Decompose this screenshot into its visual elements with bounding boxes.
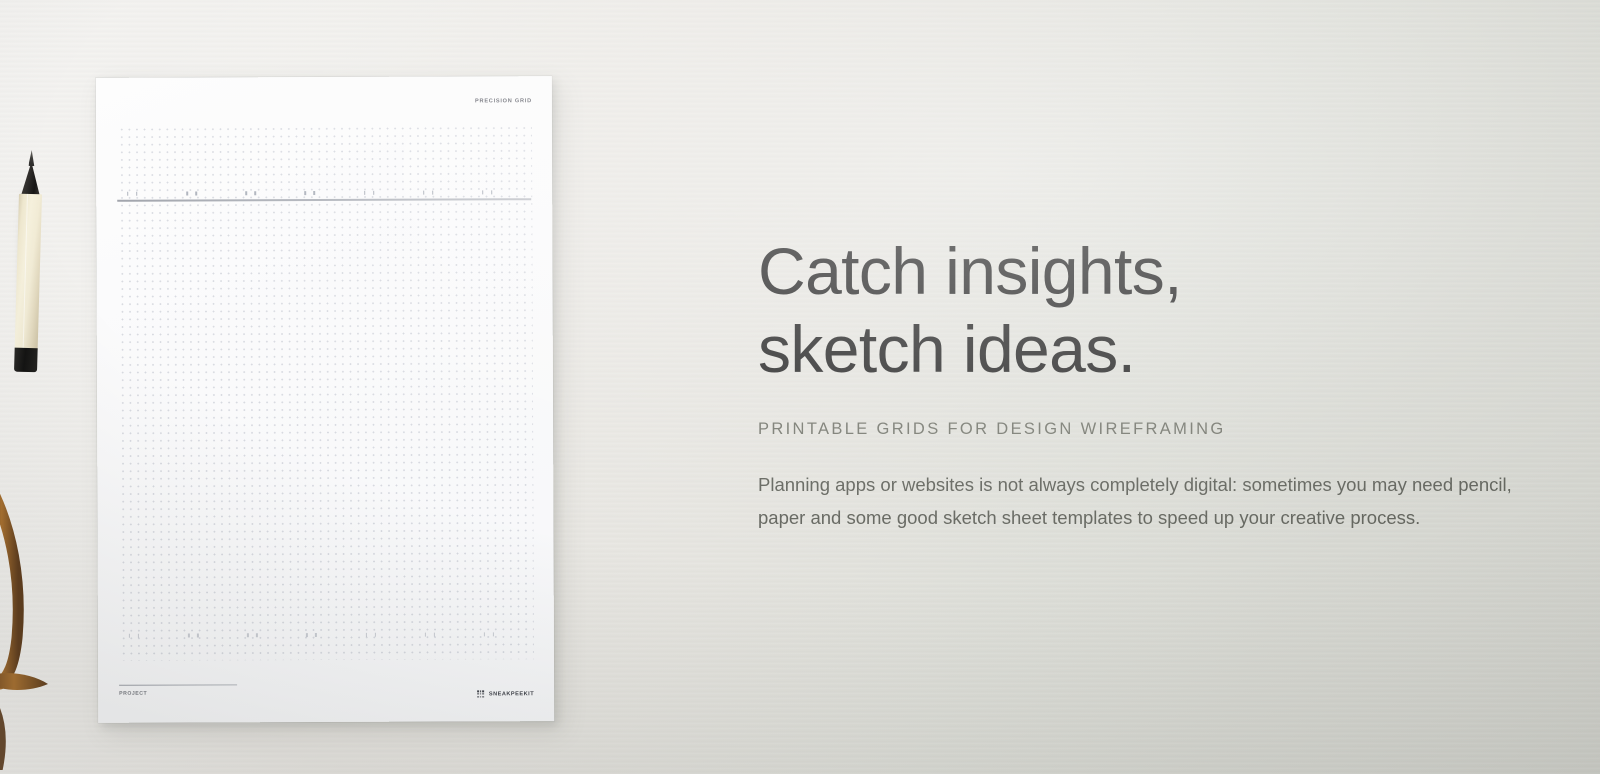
leather-strap-object bbox=[0, 470, 66, 770]
hero-body-paragraph: Planning apps or websites is not always … bbox=[758, 469, 1558, 534]
hero-scene: PRECISION GRID PROJECT SNEAKPEEKIT Catch… bbox=[0, 0, 1600, 774]
pencil-end-cap bbox=[14, 348, 38, 373]
precision-grid-label: PRECISION GRID bbox=[475, 98, 532, 104]
page-title: Catch insights, sketch ideas. bbox=[758, 232, 1558, 388]
brand-name-label: SNEAKPEEKIT bbox=[489, 691, 534, 697]
sneakpeekit-brand-lockup: SNEAKPEEKIT bbox=[477, 691, 534, 698]
hero-subtitle: PRINTABLE GRIDS FOR DESIGN WIREFRAMING bbox=[758, 420, 1558, 439]
dot-grid-area bbox=[118, 124, 534, 661]
pencil-body bbox=[15, 194, 42, 351]
sketch-sheet-paper: PRECISION GRID PROJECT SNEAKPEEKIT bbox=[96, 76, 554, 723]
hero-copy-block: Catch insights, sketch ideas. PRINTABLE … bbox=[758, 232, 1558, 534]
project-label: PROJECT bbox=[119, 691, 147, 697]
dot-grid-icon bbox=[477, 691, 484, 698]
pencil-sharpened-cone bbox=[21, 162, 41, 197]
project-write-in-rule bbox=[119, 684, 237, 686]
